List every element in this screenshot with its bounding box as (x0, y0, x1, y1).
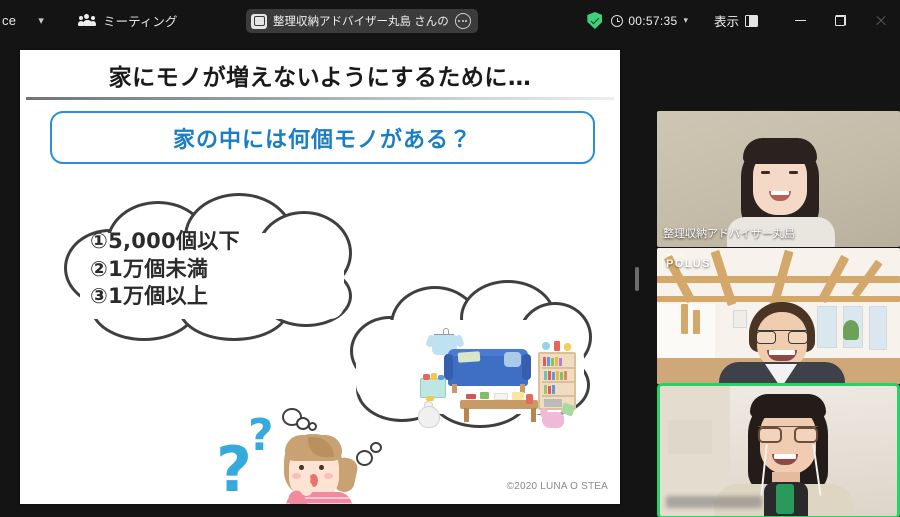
participant-video-rail: 整理収納アドバイザー丸島 (657, 70, 900, 502)
blanket-icon (458, 351, 481, 363)
sofa-leg-left (452, 384, 457, 393)
bookshelf-icon (538, 352, 576, 410)
shelf-ornament-1 (554, 341, 560, 351)
room-illustration (412, 326, 577, 436)
meeting-timer[interactable]: 00:57:35 ▾ (611, 14, 688, 28)
table-item-5 (526, 394, 533, 404)
hanger-hook-icon (443, 328, 449, 335)
toy-3 (438, 375, 444, 380)
question-mark-small: ? (248, 410, 274, 461)
close-icon (875, 15, 886, 26)
table-item-4 (512, 392, 524, 400)
slide-content: 家にモノが増えないようにするために… 家の中には何個モノがある？ (20, 50, 620, 504)
layout-icon (745, 15, 758, 27)
minimize-button[interactable] (780, 0, 820, 41)
window-controls (780, 0, 900, 41)
chevron-down-icon[interactable]: ▾ (28, 14, 54, 27)
slide-option-2: ②1万個未満 (90, 256, 340, 284)
slide-options-list: ①5,000個以下 ②1万個未満 ③1万個以上 (90, 228, 340, 311)
meeting-timer-label: 00:57:35 (628, 14, 677, 28)
toy-2 (431, 373, 437, 380)
screen-share-label: 整理収納アドバイザー丸島 さんの (273, 13, 449, 29)
toolbar-left-group: ce ▾ ミーティング (0, 11, 177, 30)
shared-slide-viewport[interactable]: 家にモノが増えないようにするために… 家の中には何個モノがある？ (18, 48, 622, 506)
slide-option-3: ③1万個以上 (90, 283, 340, 311)
participant-tile-2[interactable]: GROUP POLUS (657, 248, 900, 384)
shield-check-icon (587, 12, 602, 29)
screen-share-banner[interactable]: 整理収納アドバイザー丸島 さんの (246, 9, 478, 33)
minimize-icon (795, 20, 806, 22)
watermark-sub-label: GROUP (666, 252, 686, 257)
slide-title: 家にモノが増えないようにするために… (20, 58, 620, 92)
chevron-down-icon[interactable]: ▾ (683, 15, 688, 26)
table-item-3 (494, 393, 508, 400)
view-button[interactable]: 表示 (714, 11, 758, 30)
thought-trail-5 (370, 442, 382, 453)
clock-icon (611, 15, 623, 27)
participant-tile-3[interactable] (657, 383, 900, 517)
polus-watermark: POLUS (666, 258, 711, 270)
resize-grip-icon (635, 267, 639, 291)
participant-name-label-1: 整理収納アドバイザー丸島 (663, 225, 795, 241)
toolbar-right-group: 00:57:35 ▾ 表示 (587, 0, 900, 41)
trash-bag-icon (418, 406, 440, 428)
meeting-button[interactable]: ミーティング (78, 11, 177, 30)
plush-toy-icon (542, 412, 564, 428)
panel-resize-handle[interactable] (626, 41, 648, 517)
meeting-label: ミーティング (103, 11, 177, 30)
view-label: 表示 (714, 11, 739, 30)
clock-ornament (542, 342, 550, 350)
people-icon (78, 14, 96, 28)
coffee-table-leg-right (531, 408, 536, 422)
participant-video-3 (660, 386, 897, 516)
close-button[interactable] (860, 0, 900, 41)
app-name-label: ce (0, 13, 16, 28)
more-options-icon[interactable] (455, 13, 471, 29)
toy-1 (423, 374, 430, 380)
sofa-arm-right (522, 354, 531, 380)
title-divider (26, 97, 614, 100)
meeting-window: ce ▾ ミーティング 整理収納アドバイザー丸島 さんの 00:57:35 ▾ (0, 0, 900, 517)
table-item-1 (466, 394, 476, 399)
participant-tile-1[interactable]: 整理収納アドバイザー丸島 (657, 111, 900, 247)
slide-callout-text: 家の中には何個モノがある？ (173, 122, 472, 154)
sofa-arm-left (444, 354, 453, 380)
restore-button[interactable] (820, 0, 860, 41)
thinking-woman-illustration (272, 432, 364, 506)
table-item-2 (480, 392, 489, 399)
toy-box-icon (420, 378, 446, 398)
meeting-toolbar: ce ▾ ミーティング 整理収納アドバイザー丸島 さんの 00:57:35 ▾ (0, 0, 900, 41)
slide-option-1: ①5,000個以下 (90, 228, 340, 256)
screen-share-icon (251, 14, 267, 29)
restore-icon (835, 15, 846, 26)
cushion-icon (504, 352, 521, 367)
slide-callout-box: 家の中には何個モノがある？ (50, 111, 595, 164)
meeting-stage: 家にモノが増えないようにするために… 家の中には何個モノがある？ (0, 41, 900, 517)
shelf-ornament-2 (564, 343, 571, 351)
coffee-table-leg-left (464, 408, 469, 422)
thought-trail-3 (308, 422, 317, 431)
question-mark-large: ? (216, 433, 252, 506)
slide-copyright: ©2020 LUNA O STEA (507, 481, 608, 492)
